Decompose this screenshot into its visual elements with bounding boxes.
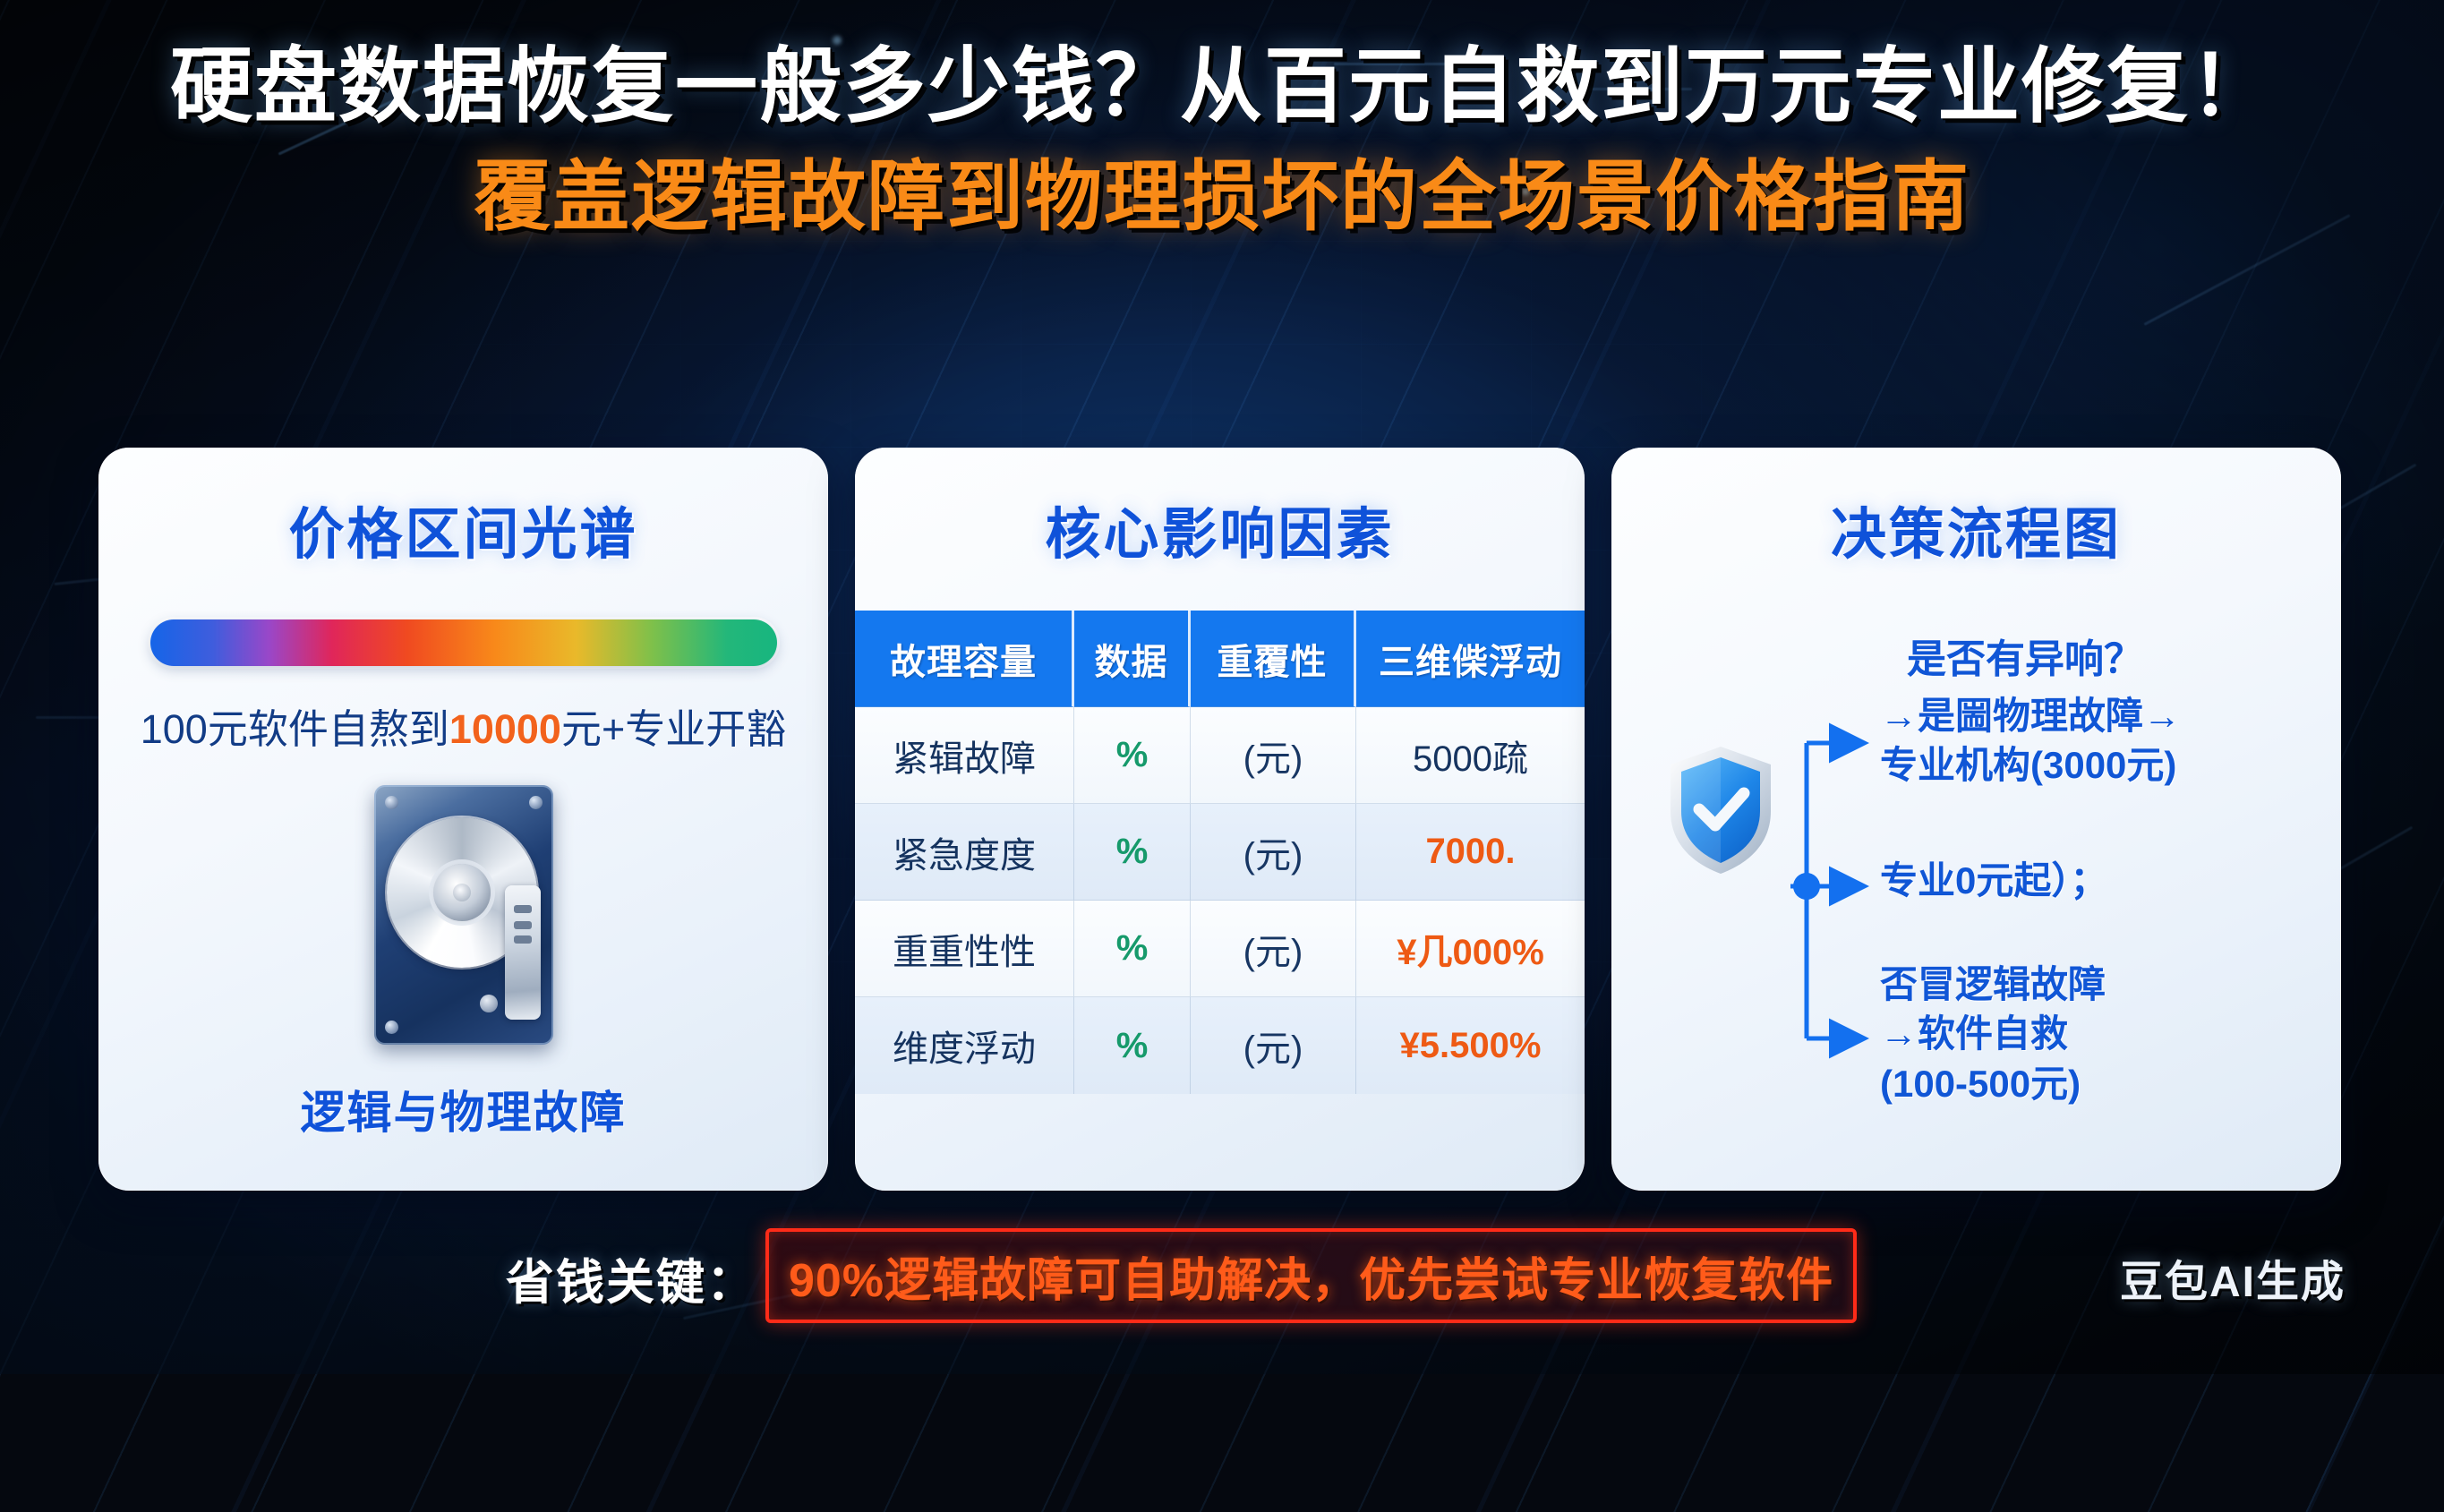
table-cell-value: ¥几000%	[1356, 901, 1585, 997]
hard-disk-icon	[374, 785, 553, 1045]
hdd-screw	[385, 1021, 398, 1034]
table-cell-unit: (元)	[1191, 707, 1356, 804]
card-row: 价格区间光谱 100元软件自熬到10000元+专业开豁 逻辑与物理故障 核心影响…	[0, 448, 2444, 1191]
card-core-factors: 核心影响因素 故理容量 数据 重覆性 三维偨浮动 紧辑故障 % (元) 5000…	[855, 448, 1585, 1191]
table-row: 维度浮动 % (元) ¥5.500%	[855, 997, 1585, 1094]
price-spectrum-caption: 100元软件自熬到10000元+专业开豁	[98, 696, 828, 755]
card-1-footer-label: 逻辑与物理故障	[98, 1077, 828, 1141]
flow-branch-bottom-line2: →软件自救	[1880, 1012, 2068, 1055]
table-cell-value: 5000疏	[1356, 707, 1585, 804]
table-cell-percent: %	[1074, 997, 1191, 1094]
table-cell-value: ¥5.500%	[1356, 997, 1585, 1094]
flow-branch-bottom-line1: 否冒逻辑故障	[1880, 963, 2106, 1005]
flow-branch-top: →是圌物理故障→ 专业机构(3000元)	[1880, 691, 2181, 790]
flow-branch-top-line1: →是圌物理故障→	[1880, 695, 2181, 737]
card-2-title: 核心影响因素	[855, 489, 1585, 569]
flow-hub-node	[1793, 873, 1820, 900]
flow-branch-mid: 专业0元起）；	[1880, 856, 2107, 905]
table-cell-percent: %	[1074, 707, 1191, 804]
footer-highlight-box: 90%逻辑故障可自助解决，优先尝试专业恢复软件	[765, 1228, 1857, 1323]
shield-check-icon	[1663, 743, 1778, 877]
headline-secondary: 覆盖逻辑故障到物理损坏的全场景价格指南	[0, 149, 2444, 246]
table-header-cell: 重覆性	[1191, 611, 1356, 707]
table-cell-percent: %	[1074, 901, 1191, 997]
table-cell-percent: %	[1074, 804, 1191, 901]
footer-label: 省钱关键：	[506, 1243, 756, 1313]
factors-table: 故理容量 数据 重覆性 三维偨浮动 紧辑故障 % (元) 5000疏 紧急度度 …	[855, 611, 1585, 1094]
table-header-cell: 数据	[1074, 611, 1191, 707]
spectrum-caption-suffix: 元+专业开豁	[561, 706, 786, 752]
table-cell-factor: 维度浮动	[855, 997, 1074, 1094]
spectrum-caption-highlight: 10000	[449, 706, 561, 752]
card-1-title: 价格区间光谱	[98, 489, 828, 569]
table-cell-factor: 重重性性	[855, 901, 1074, 997]
table-row: 紧辑故障 % (元) 5000疏	[855, 707, 1585, 804]
flow-branch-top-line2: 专业机构(3000元)	[1880, 744, 2176, 786]
hdd-pivot	[480, 995, 498, 1012]
hdd-actuator-arm	[505, 885, 541, 1020]
table-cell-unit: (元)	[1191, 901, 1356, 997]
table-row: 重重性性 % (元) ¥几000%	[855, 901, 1585, 997]
headline-block: 硬盘数据恢复一般多少钱？从百元自救到万元专业修复！ 覆盖逻辑故障到物理损坏的全场…	[0, 36, 2444, 246]
footer-banner: 省钱关键： 90%逻辑故障可自助解决，优先尝试专业恢复软件 豆包AI生成	[0, 1226, 2444, 1334]
hdd-screw	[385, 796, 398, 809]
flow-branch-bottom-line3: (100-500元)	[1880, 1063, 2081, 1105]
flow-branch-bottom: 否冒逻辑故障 →软件自救 (100-500元)	[1880, 960, 2106, 1108]
watermark: 豆包AI生成	[2120, 1246, 2346, 1309]
table-cell-factor: 紧急度度	[855, 804, 1074, 901]
table-header-row: 故理容量 数据 重覆性 三维偨浮动	[855, 611, 1585, 707]
table-cell-factor: 紧辑故障	[855, 707, 1074, 804]
decision-flow-diagram: 是否有异响？	[1611, 627, 2341, 1164]
card-decision-flow: 决策流程图 是否有异响？	[1611, 448, 2341, 1191]
table-cell-value: 7000.	[1356, 804, 1585, 901]
table-header-cell: 三维偨浮动	[1356, 611, 1585, 707]
table-cell-unit: (元)	[1191, 997, 1356, 1094]
price-spectrum-bar	[150, 619, 777, 666]
spectrum-caption-prefix: 100元软件自熬到	[141, 706, 449, 752]
footer-highlight-text: 90%逻辑故障可自助解决，优先尝试专业恢复软件	[789, 1243, 1833, 1310]
headline-primary: 硬盘数据恢复一般多少钱？从百元自救到万元专业修复！	[0, 36, 2444, 139]
table-row: 紧急度度 % (元) 7000.	[855, 804, 1585, 901]
card-3-title: 决策流程图	[1611, 489, 2341, 569]
hdd-screw	[529, 796, 543, 809]
table-header-cell: 故理容量	[855, 611, 1074, 707]
card-price-spectrum: 价格区间光谱 100元软件自熬到10000元+专业开豁 逻辑与物理故障	[98, 448, 828, 1191]
table-cell-unit: (元)	[1191, 804, 1356, 901]
hdd-spindle-hub	[433, 864, 491, 921]
table-body: 紧辑故障 % (元) 5000疏 紧急度度 % (元) 7000. 重重性性 %…	[855, 707, 1585, 1094]
